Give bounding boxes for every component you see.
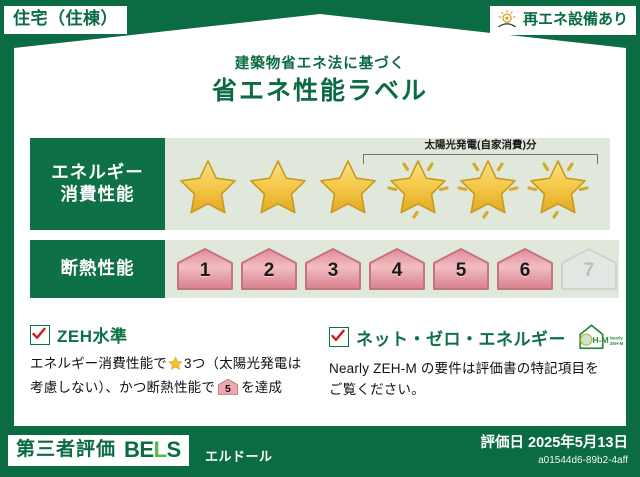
label-footer: 第三者評価 BELS エルドール 評価日 2025年5月13日 a01544d6… <box>0 429 640 477</box>
insulation-level-active: 5 <box>431 246 491 292</box>
star-filled <box>173 155 243 221</box>
info-section: ZEH水準 エネルギー消費性能で3つ（太陽光発電は考慮しない）、かつ断熱性能で5… <box>30 322 610 401</box>
zeh-standard-title: ZEH水準 <box>57 322 128 347</box>
insulation-level-active: 6 <box>495 246 555 292</box>
insulation-performance-row: 断熱性能 1234567 <box>30 240 610 298</box>
zeh-check-icon <box>30 325 50 345</box>
energy-performance-row: エネルギー 消費性能 太陽光発電(自家消費)分 <box>30 138 610 230</box>
energy-performance-label: 住宅（住棟） 再エネ設備あり 建築物省エネ法に基づく 省エネ性能ラベル エネルギ… <box>0 0 640 477</box>
insulation-level-active: 3 <box>303 246 363 292</box>
evaluation-info: 評価日 2025年5月13日 a01544d6-89b2-4aff <box>481 435 628 467</box>
zeh-standard-block: ZEH水準 エネルギー消費性能で3つ（太陽光発電は考慮しない）、かつ断熱性能で5… <box>30 322 311 401</box>
insulation-level-active: 4 <box>367 246 427 292</box>
zeh-body-part3: を達成 <box>241 380 282 395</box>
evaluation-date: 評価日 2025年5月13日 <box>481 435 628 452</box>
insulation-rating-area: 1234567 <box>165 240 619 298</box>
inline-house-value: 5 <box>217 381 239 397</box>
svg-text:Nearly: Nearly <box>610 336 624 341</box>
svg-text:H-M: H-M <box>592 335 608 345</box>
energy-performance-label-box: エネルギー 消費性能 <box>30 138 165 230</box>
insulation-level-active: 1 <box>175 246 235 292</box>
net-zero-energy-header: ネット・ゼロ・エネルギー H-M Nearly ZEH-M <box>329 322 610 352</box>
star-solar <box>523 155 593 221</box>
third-party-evaluation-label: 第三者評価 <box>16 440 116 461</box>
net-zero-energy-block: ネット・ゼロ・エネルギー H-M Nearly ZEH-M Nearly ZEH… <box>329 322 610 401</box>
bels-certification-box: 第三者評価 BELS <box>8 435 189 466</box>
energy-rating-area: 太陽光発電(自家消費)分 <box>165 138 610 230</box>
inline-house-badge: 5 <box>217 378 239 396</box>
zeh-m-logo-icon: H-M Nearly ZEH-M <box>575 322 627 352</box>
insulation-level-value: 1 <box>175 260 235 282</box>
bels-logo-part1: BE <box>124 437 154 462</box>
insulation-level-active: 2 <box>239 246 299 292</box>
renewable-badge-label: 再エネ設備あり <box>523 11 628 29</box>
svg-text:ZEH-M: ZEH-M <box>610 341 624 346</box>
insulation-level-value: 6 <box>495 260 555 282</box>
insulation-level-value: 7 <box>559 260 619 282</box>
building-type-badge: 住宅（住棟） <box>4 6 127 34</box>
insulation-level-scale: 1234567 <box>165 246 619 292</box>
net-zero-energy-body: Nearly ZEH-M の要件は評価書の特記項目をご覧ください。 <box>329 359 610 401</box>
energy-label-line1: エネルギー <box>51 162 144 184</box>
star-filled <box>313 155 383 221</box>
inline-star-icon <box>168 356 183 378</box>
energy-star-rating <box>165 155 593 221</box>
title-subtitle: 建築物省エネ法に基づく <box>0 56 640 73</box>
star-solar <box>383 155 453 221</box>
sun-renewable-icon <box>496 9 518 31</box>
insulation-level-value: 5 <box>431 260 491 282</box>
net-zero-check-icon <box>329 327 349 347</box>
insulation-level-value: 2 <box>239 260 299 282</box>
evaluation-code: a01544d6-89b2-4aff <box>481 454 628 467</box>
zeh-body-part1: エネルギー消費性能で <box>30 356 167 371</box>
insulation-label: 断熱性能 <box>61 258 135 280</box>
insulation-level-value: 3 <box>303 260 363 282</box>
title-main: 省エネ性能ラベル <box>0 77 640 106</box>
renewable-equipment-badge: 再エネ設備あり <box>490 6 636 35</box>
owner-name: エルドール <box>205 446 273 465</box>
bels-logo-part2: L <box>154 437 167 462</box>
zeh-standard-header: ZEH水準 <box>30 322 311 347</box>
insulation-level-value: 4 <box>367 260 427 282</box>
title-block: 建築物省エネ法に基づく 省エネ性能ラベル <box>0 56 640 106</box>
energy-label-line2: 消費性能 <box>61 184 135 206</box>
bels-logo-part3: S <box>167 437 181 462</box>
star-filled <box>243 155 313 221</box>
insulation-performance-label-box: 断熱性能 <box>30 240 165 298</box>
star-solar <box>453 155 523 221</box>
solar-annotation-label: 太陽光発電(自家消費)分 <box>363 140 598 152</box>
insulation-level-inactive: 7 <box>559 246 619 292</box>
net-zero-energy-title: ネット・ゼロ・エネルギー <box>356 325 566 350</box>
bels-logo: BELS <box>124 438 181 462</box>
zeh-standard-body: エネルギー消費性能で3つ（太陽光発電は考慮しない）、かつ断熱性能で5を達成 <box>30 354 311 399</box>
